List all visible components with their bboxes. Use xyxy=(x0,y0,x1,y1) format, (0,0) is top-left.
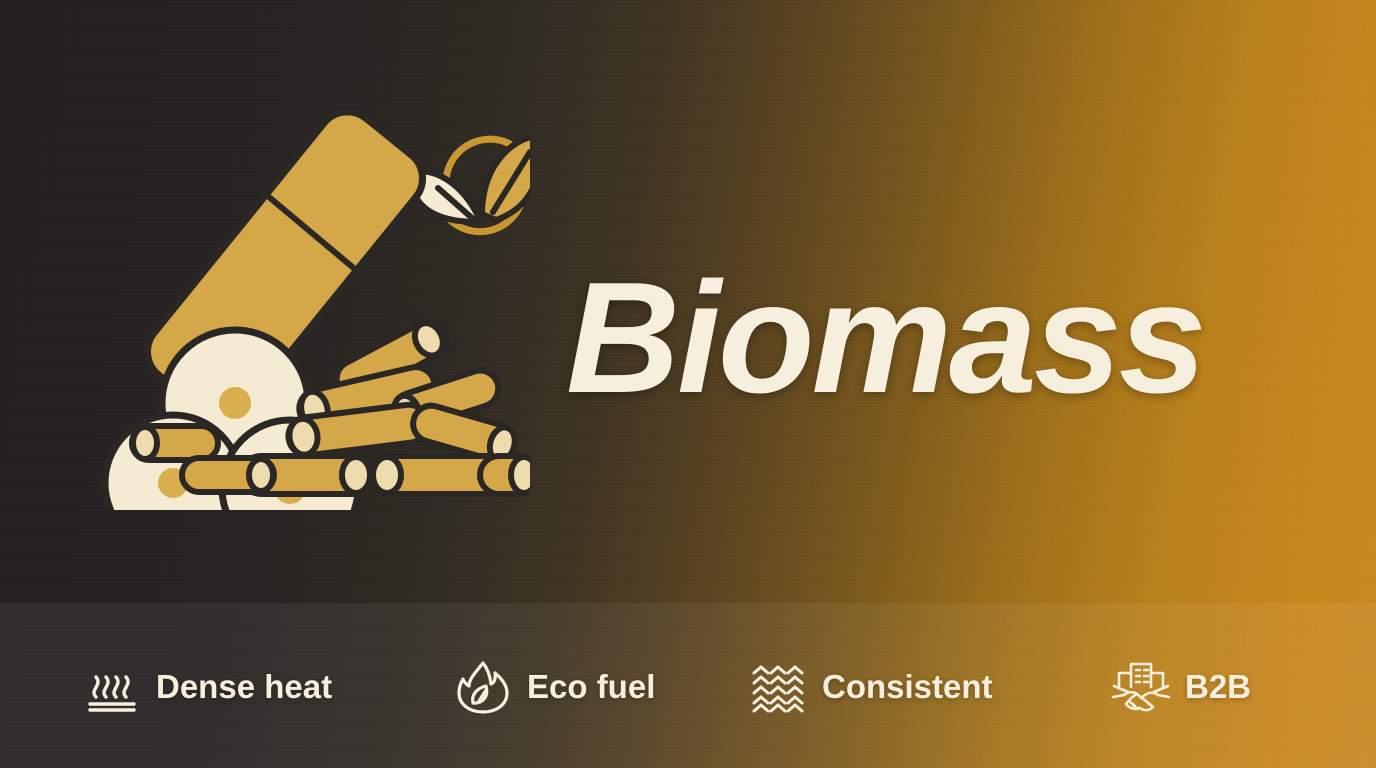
feature-strip: Dense heat Eco fuel xyxy=(0,628,1376,746)
wheat-stalks-icon xyxy=(750,659,806,715)
feature-item-consistent: Consistent xyxy=(750,659,993,715)
biomass-woodpile-illustration xyxy=(60,110,530,510)
feature-item-dense-heat: Dense heat xyxy=(84,659,332,715)
feature-label: B2B xyxy=(1185,668,1251,706)
biomass-banner: Biomass Dense heat xyxy=(0,0,1376,768)
page-title: Biomass xyxy=(566,258,1326,418)
handshake-buildings-icon xyxy=(1113,659,1169,715)
pellet-bottom-3 xyxy=(480,456,530,494)
feature-item-b2b: B2B xyxy=(1113,659,1251,715)
headline-text: Biomass xyxy=(566,259,1204,417)
eco-leaf-emblem xyxy=(413,136,530,232)
feature-label: Consistent xyxy=(822,668,993,706)
heat-waves-icon xyxy=(84,659,140,715)
flame-leaf-icon xyxy=(455,659,511,715)
loose-pellet-1 xyxy=(132,426,218,460)
feature-label: Eco fuel xyxy=(527,668,655,706)
feature-label: Dense heat xyxy=(156,668,332,706)
feature-item-eco-fuel: Eco fuel xyxy=(455,659,655,715)
loose-pellet-2 xyxy=(182,458,274,492)
